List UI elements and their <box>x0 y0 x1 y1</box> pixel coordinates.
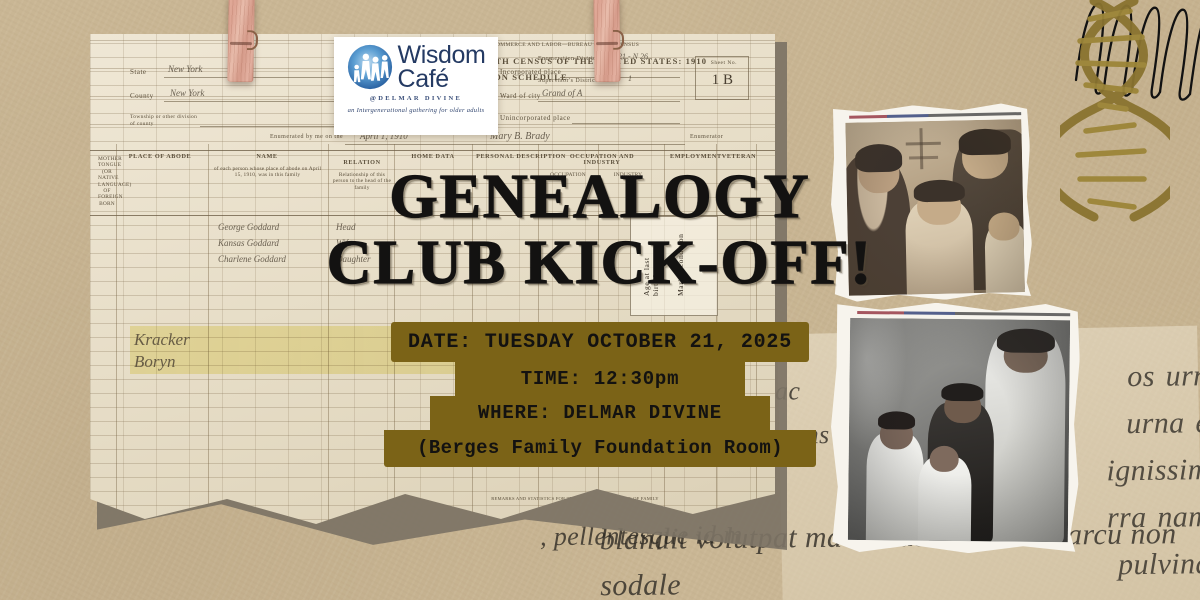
row-relation-1: Head <box>336 222 356 232</box>
event-date-band: DATE: TUESDAY OCTOBER 21, 2025 <box>391 322 809 362</box>
col-veteran: VETERAN <box>720 154 758 160</box>
col-nativity: MOTHER TONGUE (OR NATIVE LANGUAGE) OF FO… <box>98 156 116 207</box>
doc-field-enumeration-value: 21 - N 26 <box>618 52 648 61</box>
doc-field-sheet-label: Sheet No. <box>711 60 737 66</box>
row-relation-2: Wife <box>336 238 352 248</box>
col-employment: EMPLOYMENT <box>670 154 714 160</box>
logo-word-cafe: Café <box>398 67 486 91</box>
col-name: NAME <box>212 154 322 160</box>
col-home-data: HOME DATA <box>400 154 466 160</box>
doc-field-incorporated-label: Incorporated place <box>500 68 561 76</box>
doc-field-ward-value: Grand of A <box>542 88 582 98</box>
logo-word-wisdom: Wisdom <box>398 43 486 67</box>
event-where-band: WHERE: DELMAR DIVINE <box>430 396 770 430</box>
poster-canvas: os urn urna e ignissim rra nam pulvina u… <box>0 0 1200 600</box>
doc-field-enumerator-label: Enumerator <box>690 134 723 140</box>
wisdom-cafe-people-circle-icon <box>347 44 393 90</box>
col-marital-vertical-label-front: Marital condition <box>676 226 685 296</box>
logo-subtitle: @DELMAR DIVINE <box>370 95 462 102</box>
event-room-band: (Berges Family Foundation Room) <box>384 430 816 467</box>
doc-field-county-value: New York <box>170 88 204 98</box>
col-personal-description: PERSONAL DESCRIPTION <box>476 154 566 160</box>
col-age-vertical-label-front: Age at last birthday <box>642 226 660 296</box>
doc-field-unincorporated-label: Unincorporated place <box>500 114 570 122</box>
event-details-block: DATE: TUESDAY OCTOBER 21, 2025 TIME: 12:… <box>0 322 1200 467</box>
vintage-family-portrait-sepia <box>829 103 1033 302</box>
col-occupation-sub-1: OCCUPATION <box>542 172 594 178</box>
dna-helix-icon <box>1060 0 1170 235</box>
col-relation-note: Relationship of this person to the head … <box>332 172 392 191</box>
col-name-note: of each person whose place of abode on A… <box>210 166 325 179</box>
doc-field-supervisor-value: 1 <box>628 74 632 83</box>
doc-field-ward-label: Ward of city <box>500 92 541 100</box>
row-relation-3: Daughter <box>336 254 371 264</box>
row-name-3: Charlene Goddard <box>218 254 286 264</box>
col-occupation-sub-2: INDUSTRY <box>602 172 654 178</box>
doc-field-state-label: State <box>130 68 147 76</box>
wisdom-cafe-logo-card: Wisdom Café @DELMAR DIVINE an Intergener… <box>334 37 498 135</box>
doc-field-state-value: New York <box>168 64 202 74</box>
doc-field-township-label: Township or other division of county <box>130 114 200 128</box>
row-name-1: George Goddard <box>218 222 279 232</box>
doc-field-enumerated-label: Enumerated by me on the <box>270 134 343 140</box>
logo-tagline: an Intergenerational gathering for older… <box>348 107 485 114</box>
row-name-2: Kansas Goddard <box>218 238 279 248</box>
doc-field-county-label: County <box>130 92 154 100</box>
col-occupation-industry: OCCUPATION AND INDUSTRY <box>560 154 644 167</box>
clothespin-icon-right <box>593 0 620 82</box>
event-time-band: TIME: 12:30pm <box>455 362 745 396</box>
doc-field-sheet-value: 1 B <box>712 72 733 89</box>
clothespin-icon-left <box>227 0 254 82</box>
col-relation: RELATION <box>334 160 390 166</box>
doc-field-enumerator-name: Mary B. Brady <box>490 131 550 142</box>
